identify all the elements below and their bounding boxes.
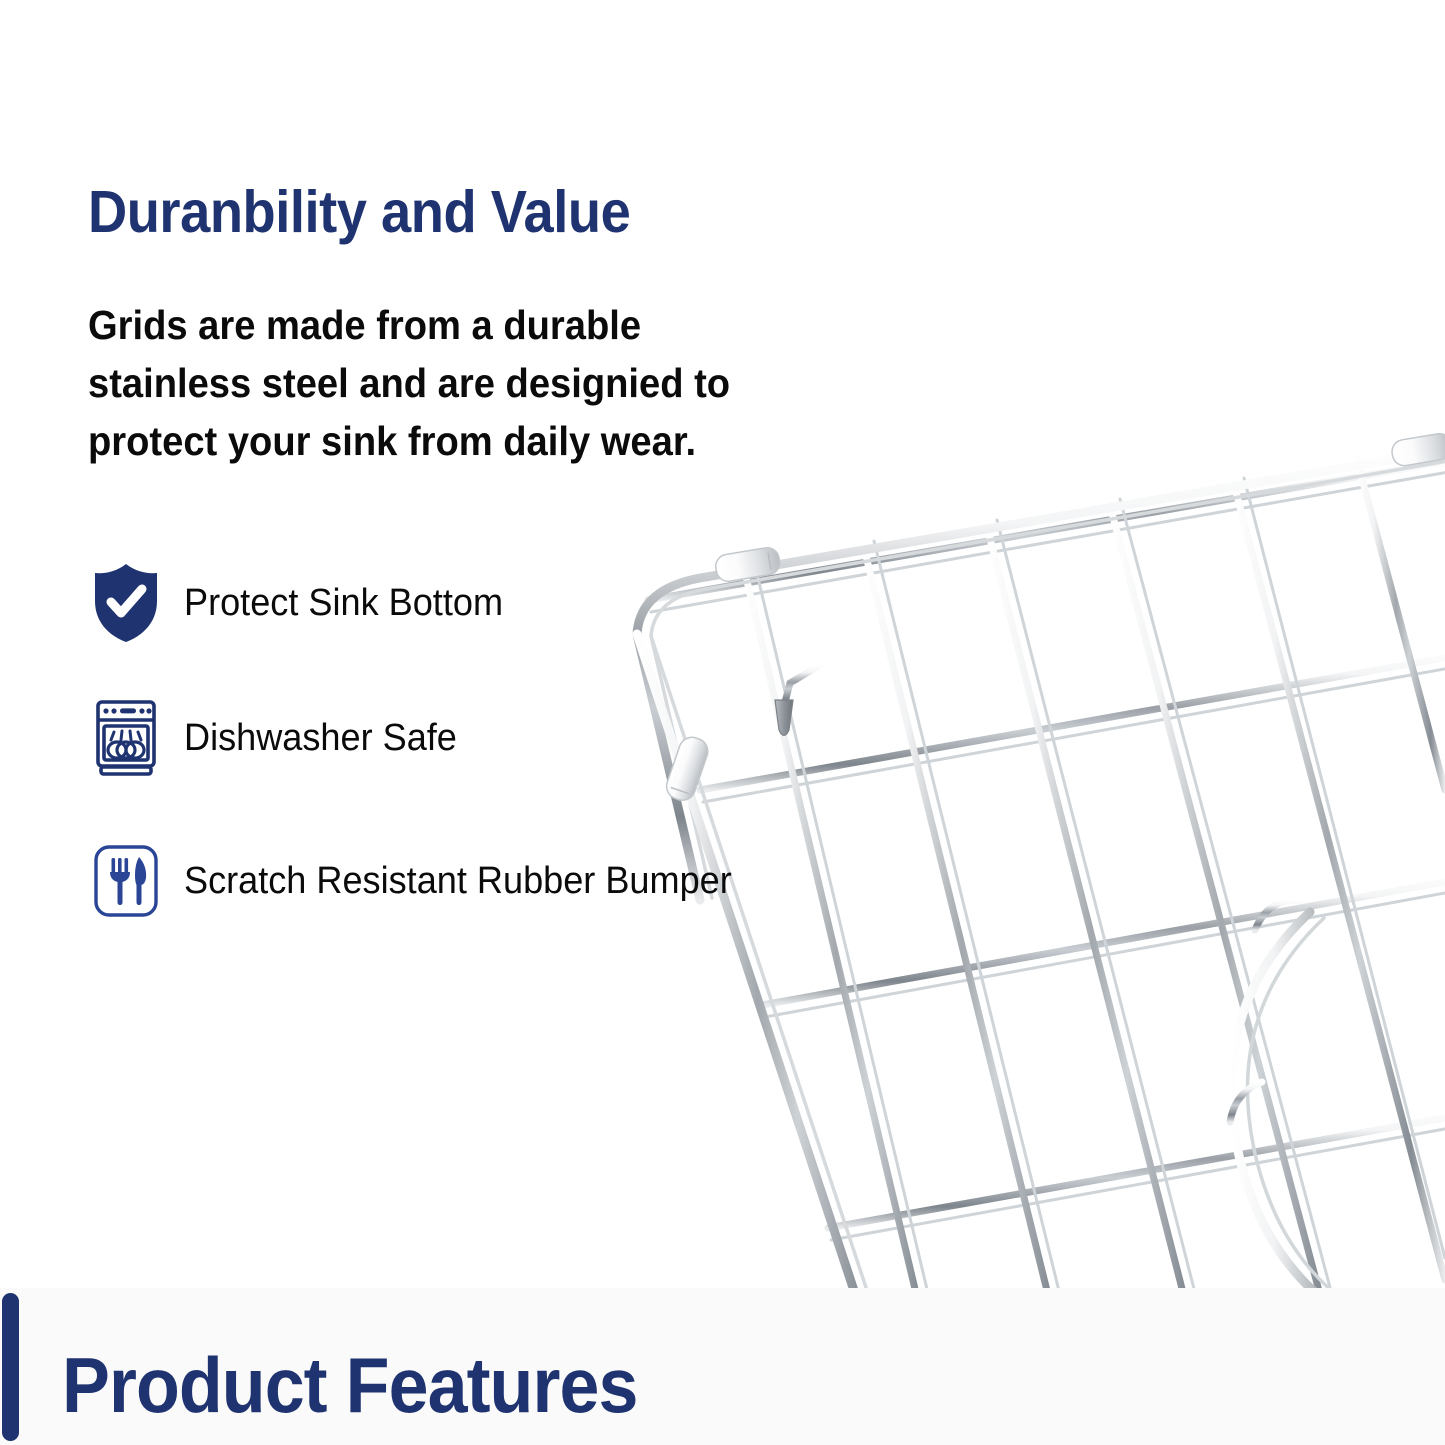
body-paragraph: Grids are made from a durable stainless … [88, 296, 758, 470]
feature-item-protect-sink-bottom: Protect Sink Bottom [88, 555, 520, 651]
feature-label: Protect Sink Bottom [184, 584, 503, 622]
banner-accent-bar [2, 1293, 19, 1441]
feature-label: Dishwasher Safe [184, 719, 457, 757]
page-title: Duranbility and Value [88, 182, 732, 244]
rubber-bumper-top-right [1390, 432, 1445, 468]
rubber-bumper-left-rail [663, 734, 711, 804]
banner-title: Product Features [62, 1346, 637, 1424]
feature-item-scratch-resistant-rubber-bumper: Scratch Resistant Rubber Bumper [88, 833, 761, 929]
rubber-bumper-top-left [714, 546, 782, 583]
feature-label: Scratch Resistant Rubber Bumper [184, 862, 732, 900]
grid-support-foot [775, 665, 820, 736]
feature-item-dishwasher-safe: Dishwasher Safe [88, 690, 471, 786]
infographic-canvas: Duranbility and Value Grids are made fro… [0, 0, 1445, 1445]
dishwasher-icon [88, 693, 164, 783]
shield-check-icon [88, 558, 164, 648]
fork-knife-icon [88, 836, 164, 926]
